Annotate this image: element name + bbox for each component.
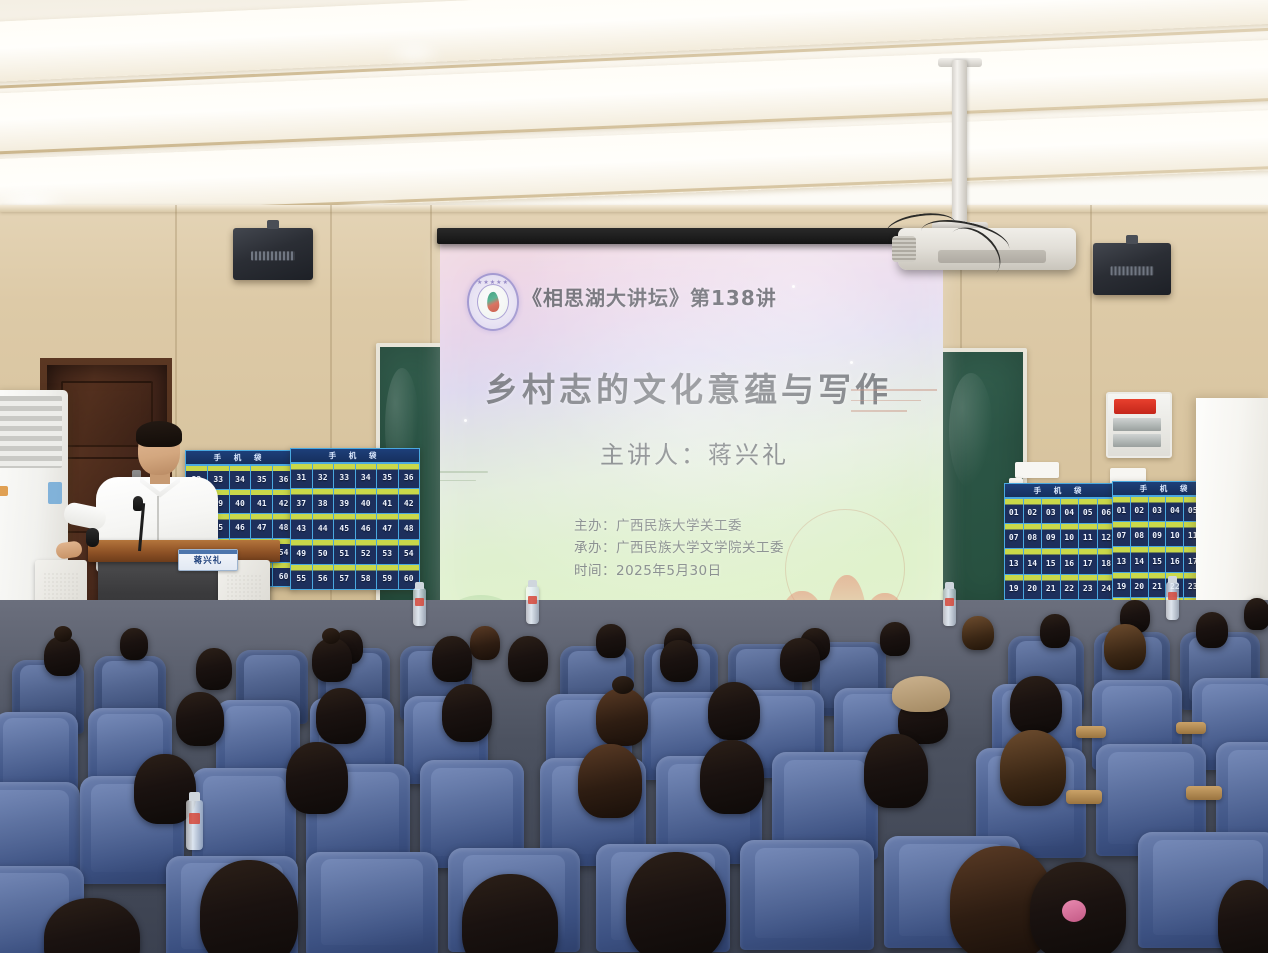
phone-pocket[interactable]: 19 (1005, 575, 1024, 599)
attendee-head (508, 636, 548, 682)
slide-title: 乡村志的文化意蕴与写作 (485, 363, 905, 411)
phone-pocket-row: 13 14 15 16 17 18 (1005, 548, 1115, 573)
water-bottle-cap (1168, 576, 1177, 583)
phone-pocket[interactable]: 43 (291, 514, 313, 538)
phone-pocket[interactable]: 53 (377, 540, 399, 564)
decorative-lines-left (440, 471, 494, 493)
microphone (86, 528, 99, 547)
phone-pocket[interactable]: 31 (291, 464, 313, 488)
phone-pocket-row: 07 08 09 10 11 12 (1005, 523, 1115, 548)
phone-pocket[interactable]: 54 (399, 540, 420, 564)
attendee-head (780, 638, 820, 682)
university-logo-icon: ★★★★★ (467, 273, 519, 331)
phone-pocket[interactable]: 49 (291, 540, 313, 564)
seat-armrest (1176, 722, 1206, 734)
phone-pocket[interactable]: 21 (1042, 575, 1061, 599)
phone-pocket[interactable]: 23 (1079, 575, 1098, 599)
attendee-head (200, 860, 298, 953)
phone-pocket[interactable]: 37 (291, 489, 313, 513)
phone-pocket[interactable]: 11 (1079, 524, 1098, 548)
phone-pocket[interactable]: 05 (1079, 499, 1098, 523)
attendee-head (120, 628, 148, 660)
phone-pocket[interactable]: 35 (377, 464, 399, 488)
electrical-panel (1106, 392, 1172, 458)
phone-pocket[interactable]: 08 (1131, 522, 1149, 546)
attendee-head (1196, 612, 1228, 648)
phone-pocket[interactable]: 47 (377, 514, 399, 538)
phone-pocket[interactable]: 45 (334, 514, 356, 538)
attendee-head (286, 742, 348, 814)
sparkle (792, 285, 795, 288)
water-bottle-cap (945, 582, 954, 589)
slide-meta: 主办：广西民族大学关工委 承办：广西民族大学文学院关工委 时间：2025年5月3… (574, 515, 784, 582)
logo-stars: ★★★★★ (469, 279, 517, 286)
phone-pocket[interactable]: 22 (1061, 575, 1080, 599)
ceiling-light (384, 42, 444, 64)
wall-speaker-right (1093, 243, 1171, 295)
attendee-head (880, 622, 910, 656)
phone-pocket[interactable]: 15 (1149, 547, 1167, 571)
phone-pocket[interactable]: 09 (1042, 524, 1061, 548)
phone-pocket[interactable]: 07 (1113, 522, 1131, 546)
ac-vent-grille (0, 396, 62, 468)
attendee-head (316, 688, 366, 744)
attendee-head (432, 636, 472, 682)
water-bottle (186, 800, 203, 850)
lecture-hall-photo: 手 机 袋 32 33 34 35 36 38 39 40 41 42 44 4… (0, 0, 1268, 953)
phone-pocket-title: 手 机 袋 (186, 451, 294, 465)
phone-pocket[interactable]: 20 (1024, 575, 1043, 599)
attendee-head (44, 636, 80, 676)
attendee-head (596, 624, 626, 658)
phone-pocket[interactable]: 32 (313, 464, 335, 488)
attendee-head (700, 740, 764, 814)
phone-pocket[interactable]: 59 (377, 565, 399, 589)
attendee-head (1000, 730, 1066, 806)
water-bottle (413, 588, 426, 626)
phone-pocket[interactable]: 42 (399, 489, 420, 513)
slide-header: 《相思湖大讲坛》第138讲 (522, 282, 777, 311)
phone-pocket[interactable]: 17 (1079, 549, 1098, 573)
projection-screen: ★★★★★ 《相思湖大讲坛》第138讲 乡村志的文化意蕴与写作 主讲人：蒋兴礼 … (440, 243, 943, 631)
screen-housing (437, 228, 945, 244)
phone-pocket[interactable]: 21 (1149, 573, 1167, 597)
phone-pocket[interactable]: 02 (1024, 499, 1043, 523)
phone-pocket[interactable]: 13 (1113, 547, 1131, 571)
phone-pocket[interactable]: 19 (1113, 573, 1131, 597)
ac-sticker (0, 486, 8, 496)
phone-pocket[interactable]: 50 (313, 540, 335, 564)
phone-pocket[interactable]: 34 (356, 464, 378, 488)
phone-pocket[interactable]: 46 (356, 514, 378, 538)
phone-pocket[interactable]: 09 (1149, 522, 1167, 546)
attendee-head (626, 852, 726, 953)
phone-pocket[interactable]: 36 (399, 464, 420, 488)
projector-mount-pole (952, 60, 967, 230)
water-bottle (943, 588, 956, 626)
logo-inner-ring (477, 284, 509, 320)
phone-pocket-row: 37 38 39 40 41 42 (291, 488, 419, 513)
phone-pocket[interactable]: 52 (356, 540, 378, 564)
auditorium-seat[interactable] (740, 840, 874, 950)
phone-pocket[interactable]: 47 (251, 514, 273, 537)
attendee-head (1104, 624, 1146, 670)
attendee-hair-bun (54, 626, 72, 642)
attendee-head (578, 744, 642, 818)
phone-pocket-row: 01 02 03 04 05 06 (1005, 498, 1115, 523)
ac-badge (48, 482, 62, 504)
phone-pocket[interactable]: 35 (251, 466, 273, 489)
attendee-head (1040, 614, 1070, 648)
phone-pocket[interactable]: 10 (1061, 524, 1080, 548)
water-bottle-cap (189, 792, 200, 801)
phone-pocket[interactable]: 14 (1024, 549, 1043, 573)
attendee-head (196, 648, 232, 690)
phone-pocket[interactable]: 15 (1042, 549, 1061, 573)
attendee-hat (892, 676, 950, 712)
attendee-head (1244, 598, 1268, 630)
wall-speaker-left (233, 228, 313, 280)
phone-pocket-title: 手 机 袋 (1005, 484, 1115, 498)
phone-pocket[interactable]: 04 (1166, 497, 1184, 521)
phone-pocket[interactable]: 10 (1166, 522, 1184, 546)
fire-alarm-switch[interactable] (1114, 399, 1156, 414)
decorative-lines-right (851, 389, 937, 421)
phone-pocket[interactable]: 02 (1131, 497, 1149, 521)
phone-pocket[interactable]: 16 (1061, 549, 1080, 573)
podium-nameplate-text: 蒋兴礼 (194, 554, 223, 566)
phone-pocket[interactable]: 46 (230, 514, 252, 537)
phone-pocket[interactable]: 57 (334, 565, 356, 589)
attendee-head (470, 626, 500, 660)
phone-pocket[interactable]: 41 (251, 490, 273, 513)
phone-pocket[interactable]: 33 (334, 464, 356, 488)
phone-pocket[interactable]: 39 (334, 489, 356, 513)
podium-nameplate: 蒋兴礼 (178, 549, 238, 571)
phone-pocket[interactable]: 07 (1005, 524, 1024, 548)
attendee-head (962, 616, 994, 650)
phone-pocket[interactable]: 55 (291, 565, 313, 589)
attendee-head (312, 638, 352, 682)
phone-pocket[interactable]: 38 (313, 489, 335, 513)
sparkle (850, 361, 853, 364)
phone-pocket[interactable]: 20 (1131, 573, 1149, 597)
phone-pocket[interactable]: 56 (313, 565, 335, 589)
attendee-head (660, 640, 698, 682)
phone-pocket[interactable]: 13 (1005, 549, 1024, 573)
phone-pocket-row: 43 44 45 46 47 48 (291, 513, 419, 538)
speaker-hair (136, 421, 182, 447)
attendee-head (176, 692, 224, 746)
phone-pocket[interactable]: 40 (230, 490, 252, 513)
seat-armrest (1186, 786, 1222, 800)
attendee-hair-tie (1062, 900, 1086, 922)
water-bottle-cap (528, 580, 537, 587)
phone-pocket[interactable]: 03 (1149, 497, 1167, 521)
phone-pocket[interactable]: 01 (1005, 499, 1024, 523)
phone-pocket[interactable]: 08 (1024, 524, 1043, 548)
phone-pocket[interactable]: 16 (1166, 547, 1184, 571)
phone-pocket-row: 55 56 57 58 59 60 (291, 564, 419, 589)
phone-pocket[interactable]: 01 (1113, 497, 1131, 521)
wall-sign (1015, 462, 1059, 478)
attendee-head (1218, 880, 1268, 953)
attendee-head (596, 688, 648, 746)
ceiling (0, 0, 1268, 232)
phone-pocket-title: 手 机 袋 (291, 449, 419, 463)
attendee-head (1010, 676, 1062, 734)
slide-meta-organizer: 承办：广西民族大学文学院关工委 (574, 537, 784, 559)
attendee-hair-bun (612, 676, 634, 694)
phone-pocket[interactable]: 34 (230, 466, 252, 489)
water-bottle (526, 586, 539, 624)
attendee-head (442, 684, 492, 742)
phone-pocket[interactable]: 03 (1042, 499, 1061, 523)
phone-pocket-row: 31 32 33 34 35 36 (291, 463, 419, 488)
slide-meta-date: 时间：2025年5月30日 (574, 560, 784, 582)
phone-pocket[interactable]: 44 (313, 514, 335, 538)
water-bottle-cap (415, 582, 424, 589)
phone-pocket[interactable]: 48 (399, 514, 420, 538)
phone-pocket[interactable]: 14 (1131, 547, 1149, 571)
logo-flame-icon (486, 291, 500, 312)
attendee-head (708, 682, 760, 740)
phone-pocket-board-left-b: 手 机 袋 31 32 33 34 35 36 37 38 39 40 41 4… (290, 448, 420, 590)
seat-armrest (1066, 790, 1102, 804)
slide-speaker: 主讲人：蒋兴礼 (600, 435, 789, 470)
phone-pocket-row: 49 50 51 52 53 54 (291, 539, 419, 564)
seat-armrest (1076, 726, 1106, 738)
attendee-head (864, 734, 928, 808)
water-bottle (1166, 582, 1179, 620)
phone-pocket[interactable]: 58 (356, 565, 378, 589)
phone-pocket[interactable]: 04 (1061, 499, 1080, 523)
phone-pocket[interactable]: 51 (334, 540, 356, 564)
phone-pocket[interactable]: 40 (356, 489, 378, 513)
slide-meta-host: 主办：广西民族大学关工委 (574, 515, 784, 537)
attendee-hair-bun (322, 628, 340, 644)
phone-pocket[interactable]: 41 (377, 489, 399, 513)
auditorium-seat[interactable] (306, 852, 438, 953)
phone-pocket-row: 19 20 21 22 23 24 (1005, 574, 1115, 599)
sparkle (464, 419, 467, 422)
